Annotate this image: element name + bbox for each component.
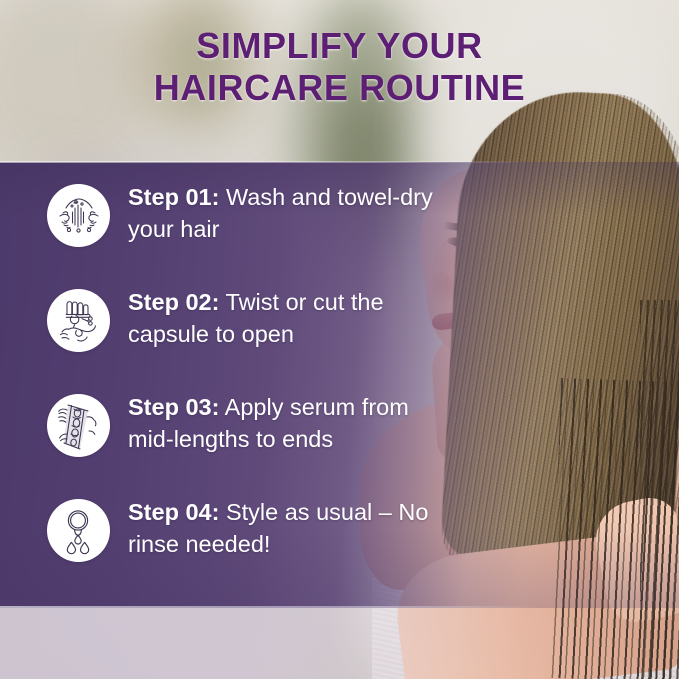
page-title-line-2: HAIRCARE ROUTINE <box>154 67 526 109</box>
bottom-lavender-wash <box>0 608 679 679</box>
step-item-2: Step 02: Twist or cut the capsule to ope… <box>0 281 470 386</box>
mirror-droplets-icon <box>47 499 110 562</box>
apply-serum-hair-strand-icon <box>47 394 110 457</box>
step-label-2: Step 02: <box>128 289 219 315</box>
washing-hair-hands-icon <box>47 184 110 247</box>
promo-graphic: SIMPLIFY YOUR HAIRCARE ROUTINE <box>0 0 679 679</box>
step-text-1: Step 01: Wash and towel-dry your hair <box>128 176 458 246</box>
step-text-3: Step 03: Apply serum from mid-lengths to… <box>128 386 458 456</box>
twist-capsule-hands-icon <box>47 289 110 352</box>
step-item-3: Step 03: Apply serum from mid-lengths to… <box>0 386 470 491</box>
step-label-1: Step 01: <box>128 184 219 210</box>
step-text-4: Step 04: Style as usual – No rinse neede… <box>128 491 458 561</box>
step-text-2: Step 02: Twist or cut the capsule to ope… <box>128 281 458 351</box>
page-title-line-1: SIMPLIFY YOUR <box>196 25 483 67</box>
header: SIMPLIFY YOUR HAIRCARE ROUTINE <box>0 0 679 162</box>
step-item-4: Step 04: Style as usual – No rinse neede… <box>0 491 470 596</box>
step-label-3: Step 03: <box>128 394 219 420</box>
step-label-4: Step 04: <box>128 499 219 525</box>
step-item-1: Step 01: Wash and towel-dry your hair <box>0 176 470 281</box>
steps-list: Step 01: Wash and towel-dry your hair <box>0 176 470 596</box>
